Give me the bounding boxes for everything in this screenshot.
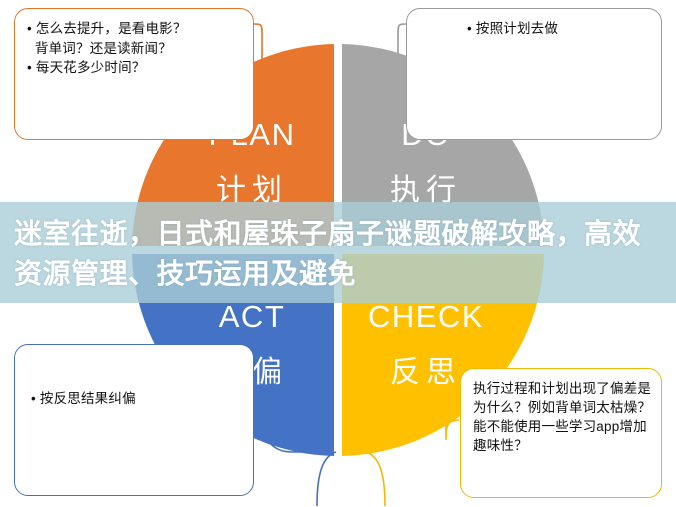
overlay-title-text: 迷室往逝，日式和屋珠子扇子谜题破解攻略，高效资源管理、技巧运用及避免 <box>0 206 676 302</box>
connector-act <box>317 452 336 506</box>
callout-check-text: 执行过程和计划出现了偏差是为什么？例如背单词太枯燥？能不能使用一些学习app增加… <box>473 379 655 456</box>
connector-check-stub <box>366 452 385 506</box>
callout-act: • 按反思结果纠偏 <box>14 344 254 496</box>
pdca-diagram-canvas: PLAN 计划 DO 执行 ACT 纠偏 CHECK 反思 • 怎么去提升，是看… <box>0 0 676 507</box>
callout-do: • 按照计划去做 <box>406 8 662 140</box>
callout-check: 执行过程和计划出现了偏差是为什么？例如背单词太枯燥？能不能使用一些学习app增加… <box>460 368 662 498</box>
callout-plan: • 怎么去提升，是看电影？ 背单词？还是读新闻？ • 每天花多少时间？ <box>14 8 254 140</box>
callout-act-text: • 按反思结果纠偏 <box>31 389 241 409</box>
callout-do-text: • 按照计划去做 <box>467 19 663 39</box>
callout-plan-text: • 怎么去提升，是看电影？ 背单词？还是读新闻？ • 每天花多少时间？ <box>27 19 243 78</box>
